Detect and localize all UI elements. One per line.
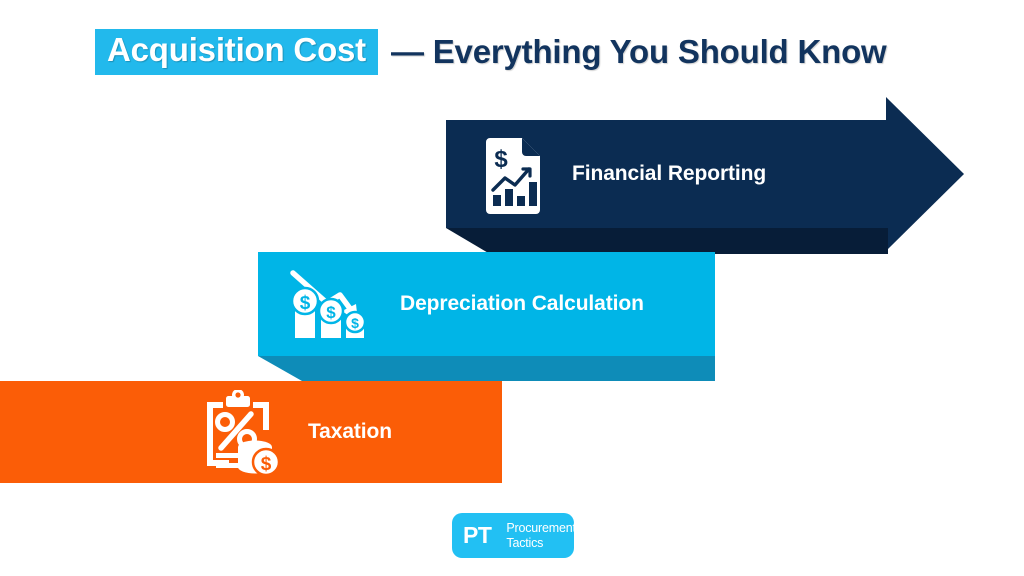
svg-text:$: $ bbox=[494, 146, 508, 173]
procurement-tactics-logo[interactable]: PT Procurement Tactics bbox=[452, 513, 574, 558]
step-taxation-label: Taxation bbox=[308, 420, 392, 444]
svg-text:$: $ bbox=[261, 454, 272, 474]
step-financial-reporting-content: $ Financial Reporting bbox=[446, 120, 888, 228]
page-title-subtitle: — Everything You Should Know bbox=[378, 35, 887, 70]
svg-text:$: $ bbox=[351, 315, 359, 331]
step-taxation-content: $ Taxation bbox=[0, 381, 502, 483]
logo-wordmark-line1: Procurement bbox=[506, 521, 575, 535]
clipboard-percent-coins-icon: $ bbox=[200, 390, 280, 474]
logo-wordmark: Procurement Tactics bbox=[506, 521, 575, 551]
step-depreciation-calculation-content: $ $ $ Depreciation Calculation bbox=[258, 252, 715, 356]
financial-report-document-icon: $ bbox=[482, 134, 544, 214]
logo-wordmark-line2: Tactics bbox=[506, 536, 543, 550]
svg-text:$: $ bbox=[300, 293, 311, 314]
page-title: Acquisition Cost — Everything You Should… bbox=[95, 29, 887, 75]
step-financial-reporting-shadow bbox=[446, 228, 888, 254]
svg-text:$: $ bbox=[326, 303, 336, 322]
step-depreciation-calculation-shadow bbox=[258, 356, 715, 381]
declining-bar-chart-coins-icon: $ $ $ bbox=[284, 264, 368, 344]
step-depreciation-calculation-label: Depreciation Calculation bbox=[400, 292, 644, 316]
step-financial-reporting-label: Financial Reporting bbox=[572, 162, 766, 186]
logo-monogram: PT bbox=[463, 524, 491, 547]
page-title-highlight: Acquisition Cost bbox=[95, 29, 378, 75]
infographic-canvas: Acquisition Cost — Everything You Should… bbox=[0, 0, 1024, 576]
arrow-head-icon bbox=[886, 97, 964, 251]
